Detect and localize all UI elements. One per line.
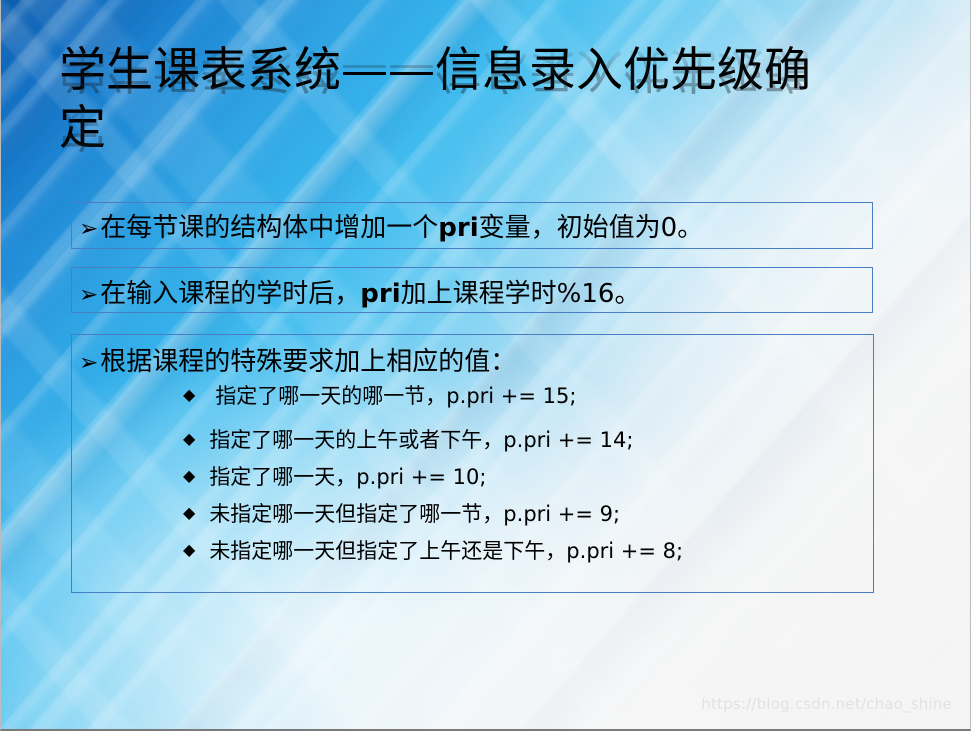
sub-bullet-item-1-label: 指定了哪一天的哪一节，p.pri += 15;	[209, 382, 576, 410]
sub-bullet-item-4: ◆ 未指定哪一天但指定了哪一节，p.pri += 9;	[183, 500, 863, 528]
bullet-line-3-heading: 根据课程的特殊要求加上相应的值：	[100, 341, 516, 378]
bullet-line-2-keyword: pri	[360, 279, 400, 309]
diamond-bullet-icon: ◆	[183, 382, 195, 408]
diamond-bullet-icon: ◆	[183, 500, 195, 526]
bullet-line-2-part-b: 加上课程学时%16。	[401, 273, 641, 310]
diamond-bullet-icon: ◆	[183, 537, 195, 563]
slide-title: 学生课表系统——信息录入优先级确 学生课表系统——信息录入优先级确 定 定	[59, 42, 949, 158]
arrow-bullet-icon: ➢	[79, 350, 98, 376]
diamond-bullet-icon: ◆	[183, 463, 195, 489]
sub-bullet-item-5-label: 未指定哪一天但指定了上午还是下午，p.pri += 8;	[209, 537, 683, 565]
arrow-bullet-icon: ➢	[79, 282, 98, 308]
sub-bullet-item-3: ◆ 指定了哪一天，p.pri += 10;	[183, 463, 863, 491]
sub-bullet-item-4-label: 未指定哪一天但指定了哪一节，p.pri += 9;	[209, 500, 620, 528]
source-watermark: https://blog.csdn.net/chao_shine	[701, 695, 952, 713]
bullet-line-2-part-a: 在输入课程的学时后，	[100, 273, 360, 310]
arrow-bullet-icon: ➢	[79, 216, 98, 242]
sub-bullet-item-3-label: 指定了哪一天，p.pri += 10;	[209, 463, 486, 491]
sub-bullet-list: ◆ 指定了哪一天的哪一节，p.pri += 15; ◆ 指定了哪一天的上午或者下…	[183, 382, 863, 565]
sub-bullet-item-1: ◆ 指定了哪一天的哪一节，p.pri += 15;	[183, 382, 863, 410]
title-line-1-wrap: 学生课表系统——信息录入优先级确 学生课表系统——信息录入优先级确	[59, 42, 949, 100]
bullet-line-1-part-b: 变量，初始值为0。	[479, 207, 704, 244]
sub-bullet-item-2-label: 指定了哪一天的上午或者下午，p.pri += 14;	[209, 426, 633, 454]
bullet-line-1-keyword: pri	[438, 213, 478, 243]
title-line-2: 定	[59, 100, 949, 158]
sub-bullet-item-5: ◆ 未指定哪一天但指定了上午还是下午，p.pri += 8;	[183, 537, 863, 565]
sub-bullet-item-2: ◆ 指定了哪一天的上午或者下午，p.pri += 14;	[183, 426, 863, 454]
title-line-1: 学生课表系统——信息录入优先级确	[59, 42, 949, 100]
bullet-line-1: ➢ 在每节课的结构体中增加一个pri变量，初始值为0。	[79, 207, 703, 244]
bullet-line-2: ➢ 在输入课程的学时后，pri加上课程学时%16。	[79, 273, 640, 310]
diamond-bullet-icon: ◆	[183, 426, 195, 452]
presentation-slide: 学生课表系统——信息录入优先级确 学生课表系统——信息录入优先级确 定 定 ➢ …	[0, 0, 971, 731]
bullet-line-3: ➢ 根据课程的特殊要求加上相应的值：	[79, 341, 516, 378]
bullet-line-1-part-a: 在每节课的结构体中增加一个	[100, 207, 438, 244]
title-line-2-wrap: 定 定	[59, 100, 949, 158]
